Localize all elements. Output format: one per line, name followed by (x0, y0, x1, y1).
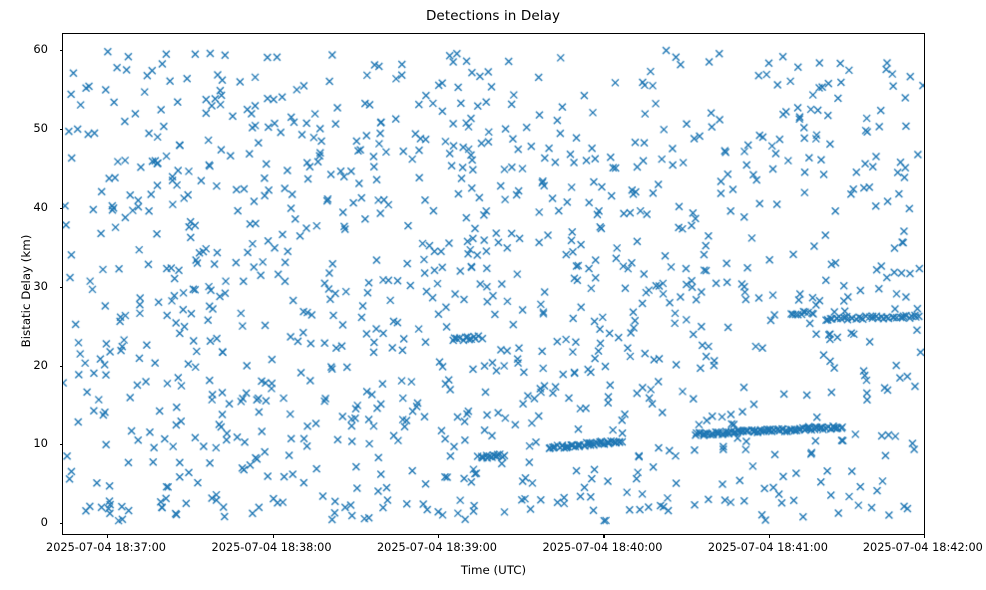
y-tick-label: 10 (8, 436, 48, 450)
x-tick-mark (603, 534, 604, 538)
matplotlib-figure: Detections in Delay 0102030405060 2025-0… (0, 0, 986, 590)
y-tick-mark (60, 129, 64, 130)
x-tick-label: 2025-07-04 18:40:00 (542, 541, 662, 554)
y-tick-label: 0 (8, 515, 48, 529)
x-tick-mark (438, 534, 439, 538)
x-axis-label: Time (UTC) (62, 563, 925, 577)
x-tick-label: 2025-07-04 18:39:00 (377, 541, 497, 554)
y-tick-label: 50 (8, 121, 48, 135)
x-tick-mark (924, 534, 925, 538)
x-tick-mark (107, 534, 108, 538)
y-axis-label: Bistatic Delay (km) (19, 211, 33, 371)
y-tick-label: 60 (8, 42, 48, 56)
x-tick-label: 2025-07-04 18:38:00 (212, 541, 332, 554)
y-tick-mark (60, 366, 64, 367)
x-tick-label: 2025-07-04 18:41:00 (708, 541, 828, 554)
y-tick-mark (60, 444, 64, 445)
page-title: Detections in Delay (0, 8, 986, 24)
x-tick-label: 2025-07-04 18:42:00 (863, 541, 983, 554)
x-tick-mark (273, 534, 274, 538)
plot-axes (62, 33, 925, 535)
x-tick-mark (769, 534, 770, 538)
y-tick-mark (60, 287, 64, 288)
scatter-plot-canvas (63, 34, 924, 534)
x-tick-label: 2025-07-04 18:37:00 (46, 541, 166, 554)
y-tick-mark (60, 208, 64, 209)
y-tick-mark (60, 50, 64, 51)
y-tick-mark (60, 523, 64, 524)
